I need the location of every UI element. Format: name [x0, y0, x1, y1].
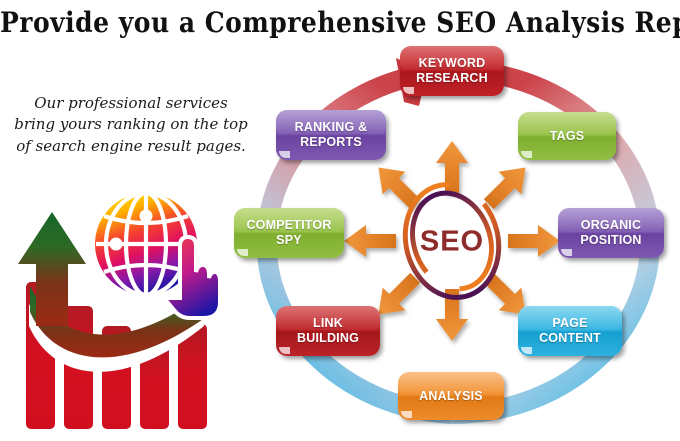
badge-organic-position[interactable]: ORGANIC POSITION — [558, 208, 664, 258]
subtitle-text: Our professional services bring yours ra… — [12, 93, 250, 157]
seo-growth-illustration — [4, 186, 218, 436]
badge-ranking-reports-label: RANKING & REPORTS — [295, 120, 368, 150]
seo-center-logo: SEO — [386, 167, 518, 317]
badge-tags-label: TAGS — [550, 129, 585, 144]
seo-center-label: SEO — [386, 225, 518, 258]
badge-link-building-label: LINK BUILDING — [297, 316, 359, 346]
poster-canvas: Provide you a Comprehensive SEO Analysis… — [0, 0, 680, 439]
seo-cycle-diagram: SEO KEYWORD RESEARCH TAGS ORGANIC POSITI… — [228, 44, 676, 439]
badge-page-content-label: PAGE CONTENT — [539, 316, 601, 346]
badge-analysis[interactable]: ANALYSIS — [398, 372, 504, 420]
badge-page-content[interactable]: PAGE CONTENT — [518, 306, 622, 356]
badge-tags[interactable]: TAGS — [518, 112, 616, 160]
badge-keyword-research-label: KEYWORD RESEARCH — [416, 56, 488, 86]
badge-ranking-reports[interactable]: RANKING & REPORTS — [276, 110, 386, 160]
badge-competitor-spy[interactable]: COMPETITOR SPY — [234, 208, 344, 258]
badge-competitor-spy-label: COMPETITOR SPY — [246, 218, 331, 248]
badge-link-building[interactable]: LINK BUILDING — [276, 306, 380, 356]
badge-keyword-research[interactable]: KEYWORD RESEARCH — [400, 46, 504, 96]
badge-analysis-label: ANALYSIS — [419, 389, 483, 404]
page-title: Provide you a Comprehensive SEO Analysis… — [0, 6, 680, 38]
badge-organic-position-label: ORGANIC POSITION — [580, 218, 641, 248]
